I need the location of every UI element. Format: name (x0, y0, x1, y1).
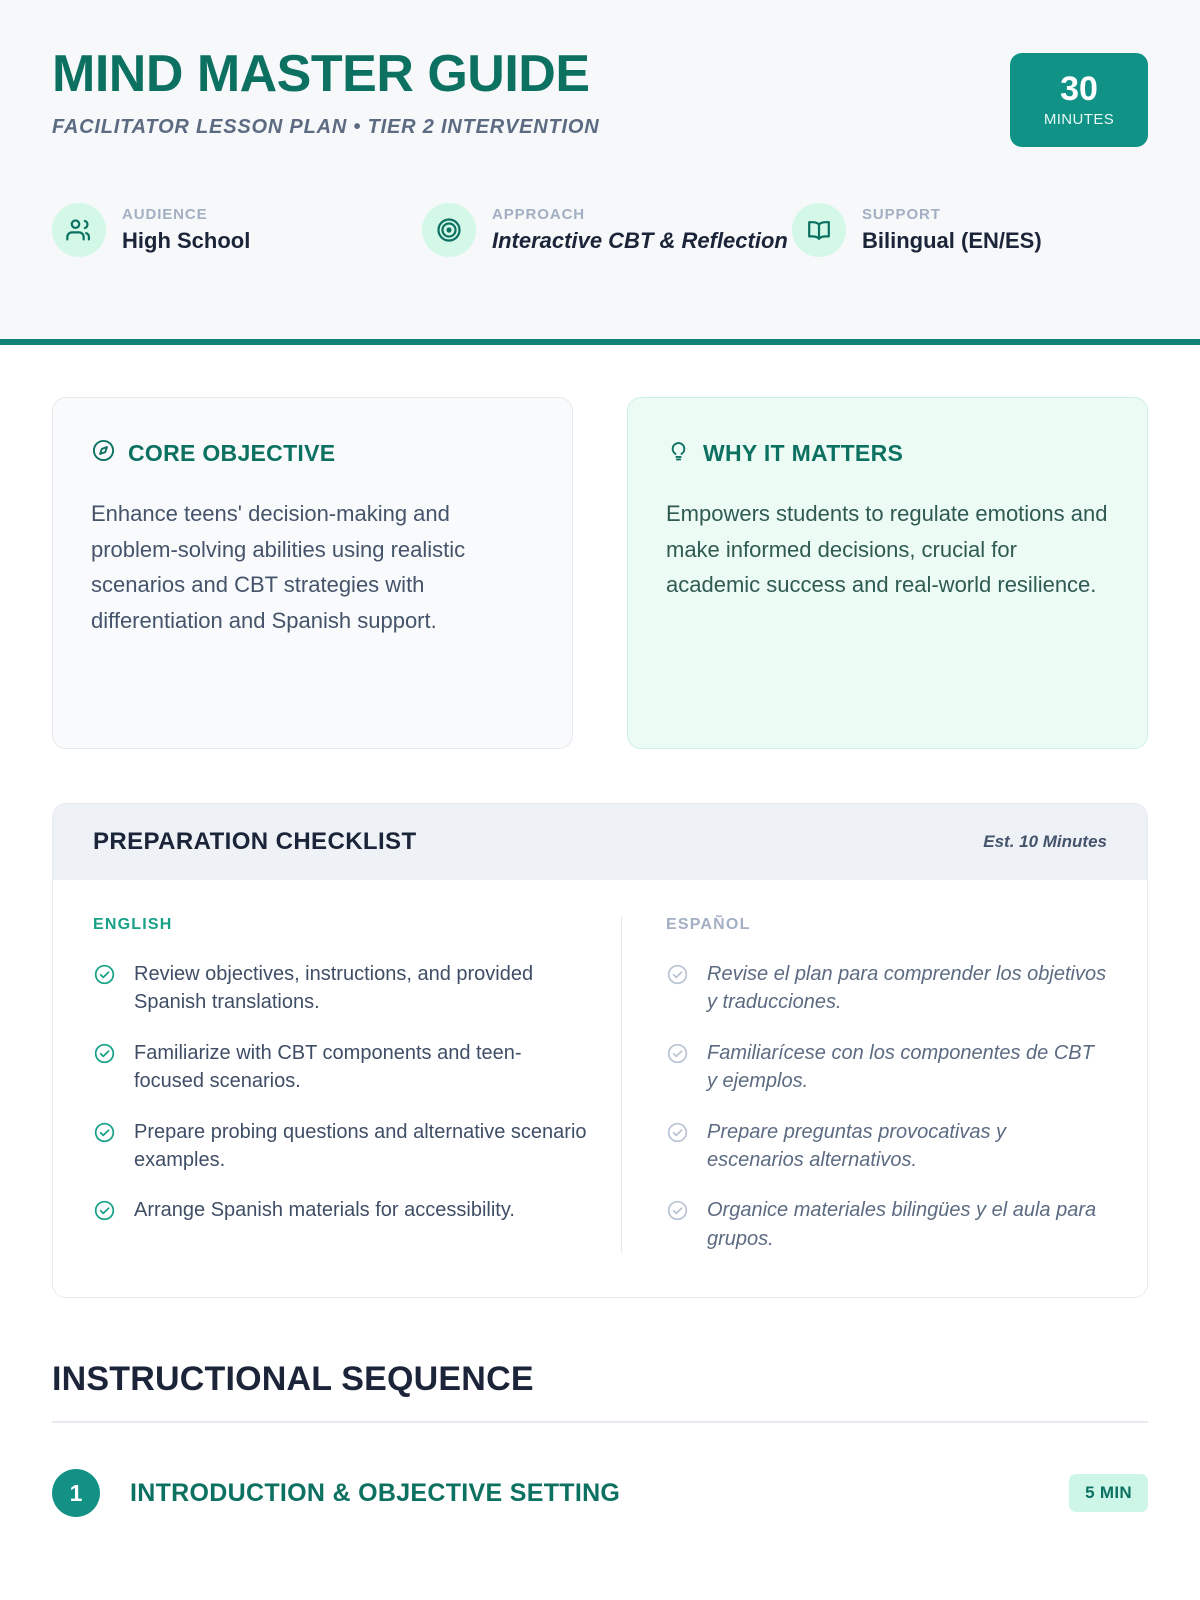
list-item-text: Familiarícese con los componentes de CBT… (707, 1039, 1107, 1096)
duration-badge: 30 MINUTES (1010, 53, 1148, 147)
list-item-text: Organice materiales bilingües y el aula … (707, 1196, 1107, 1253)
meta-value-approach: Interactive CBT & Reflection (492, 228, 788, 254)
core-objective-title: CORE OBJECTIVE (128, 440, 335, 467)
duration-unit: MINUTES (1044, 111, 1114, 128)
list-item[interactable]: Review objectives, instructions, and pro… (93, 960, 587, 1017)
list-item[interactable]: Prepare preguntas provocativas y escenar… (666, 1118, 1107, 1175)
list-item[interactable]: Revise el plan para comprender los objet… (666, 960, 1107, 1017)
meta-text-support: SUPPORT Bilingual (EN/ES) (862, 206, 1042, 254)
why-it-matters-header: WHY IT MATTERS (666, 438, 1109, 468)
header-accent-rule (0, 339, 1200, 345)
core-objective-header: CORE OBJECTIVE (91, 438, 534, 468)
meta-label-support: SUPPORT (862, 206, 1042, 223)
book-icon (792, 203, 846, 257)
check-circle-icon (93, 1118, 117, 1149)
step-title: INTRODUCTION & OBJECTIVE SETTING (130, 1479, 1039, 1508)
instructional-sequence-section: INSTRUCTIONAL SEQUENCE 1 INTRODUCTION & … (52, 1360, 1148, 1517)
list-item-text: Prepare preguntas provocativas y escenar… (707, 1118, 1107, 1175)
sequence-title: INSTRUCTIONAL SEQUENCE (52, 1360, 1148, 1399)
target-icon (422, 203, 476, 257)
list-item-text: Prepare probing questions and alternativ… (134, 1118, 587, 1175)
meta-value-audience: High School (122, 228, 250, 254)
checklist-columns: ENGLISH Review objectives, instructions,… (53, 880, 1147, 1297)
sequence-divider (52, 1421, 1148, 1423)
list-item-text: Revise el plan para comprender los objet… (707, 960, 1107, 1017)
users-icon (52, 203, 106, 257)
info-cards-row: CORE OBJECTIVE Enhance teens' decision-m… (52, 397, 1148, 749)
column-label-english: ENGLISH (93, 916, 587, 934)
meta-item-approach: APPROACH Interactive CBT & Reflection (422, 203, 792, 257)
sequence-step-1[interactable]: 1 INTRODUCTION & OBJECTIVE SETTING 5 MIN (52, 1469, 1148, 1517)
meta-item-audience: AUDIENCE High School (52, 203, 422, 257)
meta-item-support: SUPPORT Bilingual (EN/ES) (792, 203, 1122, 257)
check-circle-icon (93, 1039, 117, 1070)
meta-text-approach: APPROACH Interactive CBT & Reflection (492, 206, 788, 254)
preparation-checklist: PREPARATION CHECKLIST Est. 10 Minutes EN… (52, 803, 1148, 1298)
page-header: MIND MASTER GUIDE FACILITATOR LESSON PLA… (0, 0, 1200, 345)
column-label-spanish: ESPAÑOL (666, 916, 1107, 934)
check-circle-icon (666, 960, 690, 991)
list-item[interactable]: Arrange Spanish materials for accessibil… (93, 1196, 587, 1227)
lightbulb-icon (666, 438, 691, 468)
meta-label-approach: APPROACH (492, 206, 788, 223)
step-number-badge: 1 (52, 1469, 100, 1517)
checklist-estimate: Est. 10 Minutes (983, 832, 1107, 852)
list-item-text: Familiarize with CBT components and teen… (134, 1039, 587, 1096)
header-top-row: MIND MASTER GUIDE FACILITATOR LESSON PLA… (52, 44, 1148, 147)
core-objective-body: Enhance teens' decision-making and probl… (91, 496, 534, 639)
list-item[interactable]: Familiarícese con los componentes de CBT… (666, 1039, 1107, 1096)
list-item-text: Arrange Spanish materials for accessibil… (134, 1196, 515, 1224)
meta-row: AUDIENCE High School APPROACH Interactiv… (52, 203, 1148, 257)
checklist-column-spanish: ESPAÑOL Revise el plan para comprender l… (621, 916, 1107, 1253)
why-it-matters-title: WHY IT MATTERS (703, 440, 903, 467)
title-block: MIND MASTER GUIDE FACILITATOR LESSON PLA… (52, 44, 599, 139)
duration-number: 30 (1060, 72, 1098, 106)
check-circle-icon (93, 1196, 117, 1227)
checklist-column-english: ENGLISH Review objectives, instructions,… (93, 916, 621, 1253)
check-circle-icon (666, 1118, 690, 1149)
checklist-title: PREPARATION CHECKLIST (93, 828, 417, 856)
page-body: CORE OBJECTIVE Enhance teens' decision-m… (0, 345, 1200, 1517)
check-circle-icon (666, 1196, 690, 1227)
page-subtitle: FACILITATOR LESSON PLAN • TIER 2 INTERVE… (52, 116, 599, 139)
checklist-header: PREPARATION CHECKLIST Est. 10 Minutes (53, 804, 1147, 880)
core-objective-card: CORE OBJECTIVE Enhance teens' decision-m… (52, 397, 573, 749)
meta-text-audience: AUDIENCE High School (122, 206, 250, 254)
list-item[interactable]: Familiarize with CBT components and teen… (93, 1039, 587, 1096)
meta-value-support: Bilingual (EN/ES) (862, 228, 1042, 254)
list-item[interactable]: Prepare probing questions and alternativ… (93, 1118, 587, 1175)
page-title: MIND MASTER GUIDE (52, 48, 599, 100)
list-item[interactable]: Organice materiales bilingües y el aula … (666, 1196, 1107, 1253)
check-circle-icon (666, 1039, 690, 1070)
why-it-matters-body: Empowers students to regulate emotions a… (666, 496, 1109, 603)
list-item-text: Review objectives, instructions, and pro… (134, 960, 587, 1017)
step-duration-badge: 5 MIN (1069, 1474, 1148, 1512)
why-it-matters-card: WHY IT MATTERS Empowers students to regu… (627, 397, 1148, 749)
check-circle-icon (93, 960, 117, 991)
compass-icon (91, 438, 116, 468)
meta-label-audience: AUDIENCE (122, 206, 250, 223)
